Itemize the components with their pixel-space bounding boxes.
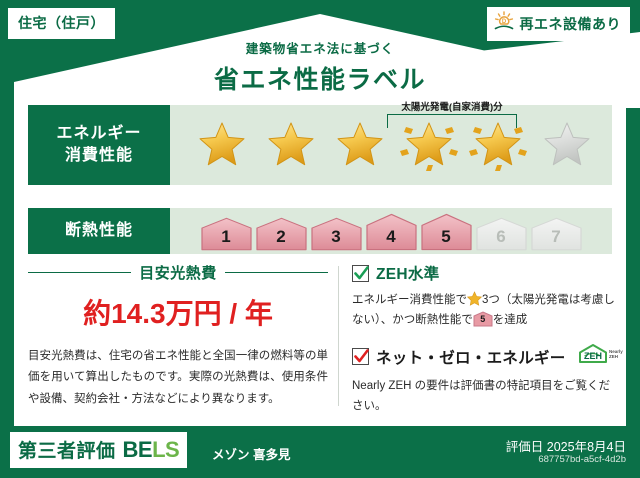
bels-logo-part1: BE [123,437,153,462]
insulation-level-7: 7 [530,217,583,251]
check-icon [354,348,369,365]
insulation-performance-label-panel: 断熱性能 [28,208,170,254]
evaluation-id: 687757bd-a5cf-4d2b [538,454,626,465]
building-type-tag: 住宅（住戸） [8,8,115,39]
svg-text:D: D [501,19,506,25]
star-filled-icon [335,121,385,169]
heading-rule-left [28,272,131,274]
net-zero-body: Nearly ZEH の要件は評価書の特記項目をご覧ください。 [352,376,620,416]
energy-performance-label: 住宅（住戸） D 再エネ設備あり 建築物省エネ法に基づく 省エネ性能ラベル 太 [0,0,640,478]
insulation-level-number: 6 [496,227,505,247]
solar-generation-note: 太陽光発電(自家消費)分 [387,99,517,113]
insulation-label: 断熱性能 [65,220,133,242]
renewable-badge-label: 再エネ設備あり [520,14,622,34]
bels-plate: 第三者評価 BELS [10,432,187,468]
svg-text:ZEH: ZEH [609,354,618,359]
insulation-level-5: 5 [420,213,473,251]
solar-sun-icon: D [493,11,515,36]
star-empty-icon [542,121,592,169]
insulation-performance-row: 断熱性能 1234567 [28,208,612,254]
bels-logo-part2: LS [152,437,179,462]
net-zero-checkbox [352,348,369,365]
insulation-level-2: 2 [255,217,308,251]
star-3 [327,113,393,177]
insulation-level-1: 1 [200,217,253,251]
insulation-level-6: 6 [475,217,528,251]
energy-label-line2: 消費性能 [65,145,133,167]
title-subtitle: 建築物省エネ法に基づく [0,38,640,57]
evaluation-date-value: 2025年8月4日 [547,440,626,454]
star-filled-icon [404,121,454,169]
evaluation-date: 評価日 2025年8月4日 [506,436,626,455]
star-1 [189,113,255,177]
title-block: 建築物省エネ法に基づく 省エネ性能ラベル [0,38,640,96]
utility-cost-value: 約14.3万円 / 年 [28,292,328,332]
solar-bracket [387,114,517,128]
column-divider [338,266,339,406]
utility-cost-column: 目安光熱費 約14.3万円 / 年 目安光熱費は、住宅の省エネ性能と全国一律の燃… [28,262,328,410]
net-zero-energy-block: ネット・ゼロ・エネルギー ZEH Nearly ZEH Nearly ZEH の… [352,343,620,416]
insulation-level-number: 3 [331,227,340,247]
zeh-standard-body: エネルギー消費性能で3つ（太陽光発電は考慮しない）、かつ断熱性能で5を達成 [352,290,620,330]
star-filled-icon [197,121,247,169]
net-zero-title: ネット・ゼロ・エネルギー [376,346,566,368]
net-zero-heading: ネット・ゼロ・エネルギー ZEH Nearly ZEH [352,343,620,370]
inline-house-level-number: 5 [473,312,493,328]
zeh-standard-checkbox [352,265,369,282]
insulation-level-scale: 1234567 [170,208,612,254]
label-footer: 第三者評価 BELS メゾン 喜多見 評価日 2025年8月4日 687757b… [0,426,640,478]
zeh-body-part1: エネルギー消費性能で [352,294,467,306]
energy-label-line1: エネルギー [56,123,141,145]
star-6 [534,113,600,177]
star-filled-icon [266,121,316,169]
evaluation-date-label: 評価日 [506,440,544,454]
insulation-level-3: 3 [310,217,363,251]
third-party-eval-label: 第三者評価 [18,436,116,463]
zeh-logo-icon: ZEH Nearly ZEH [577,343,627,370]
utility-cost-note: 目安光熱費は、住宅の省エネ性能と全国一律の燃料等の単価を用いて算出したものです。… [28,346,328,410]
star-filled-icon [473,121,523,169]
insulation-level-number: 2 [276,227,285,247]
insulation-level-number: 5 [441,227,450,247]
star-2 [258,113,324,177]
zeh-body-part3: を達成 [493,314,528,326]
energy-performance-label-panel: エネルギー 消費性能 [28,105,170,185]
page-title: 省エネ性能ラベル [0,60,640,96]
bels-logo: BELS [123,437,180,463]
zeh-standard-block: ZEH水準 エネルギー消費性能で3つ（太陽光発電は考慮しない）、かつ断熱性能で5… [352,262,620,330]
insulation-level-4: 4 [365,213,418,251]
zeh-standard-title: ZEH水準 [376,262,440,284]
renewable-equipment-badge: D 再エネ設備あり [487,7,631,41]
zeh-standard-heading: ZEH水準 [352,262,620,284]
heading-rule-right [225,272,328,274]
certification-column: ZEH水準 エネルギー消費性能で3つ（太陽光発電は考慮しない）、かつ断熱性能で5… [352,262,620,430]
check-icon [354,265,369,282]
utility-cost-heading: 目安光熱費 [28,262,328,283]
insulation-level-number: 1 [221,227,230,247]
insulation-levels-area: 1234567 [170,208,612,254]
inline-house-level-icon: 5 [473,311,493,327]
insulation-level-number: 7 [551,227,560,247]
building-name: メゾン 喜多見 [212,444,290,463]
zeh-body-stars: 3つ（太陽光発電 [482,294,569,306]
utility-cost-heading-label: 目安光熱費 [139,262,217,283]
insulation-level-number: 4 [386,227,395,247]
svg-text:ZEH: ZEH [584,351,602,361]
inline-star-icon [467,291,482,306]
energy-performance-row: エネルギー 消費性能 [28,105,612,185]
